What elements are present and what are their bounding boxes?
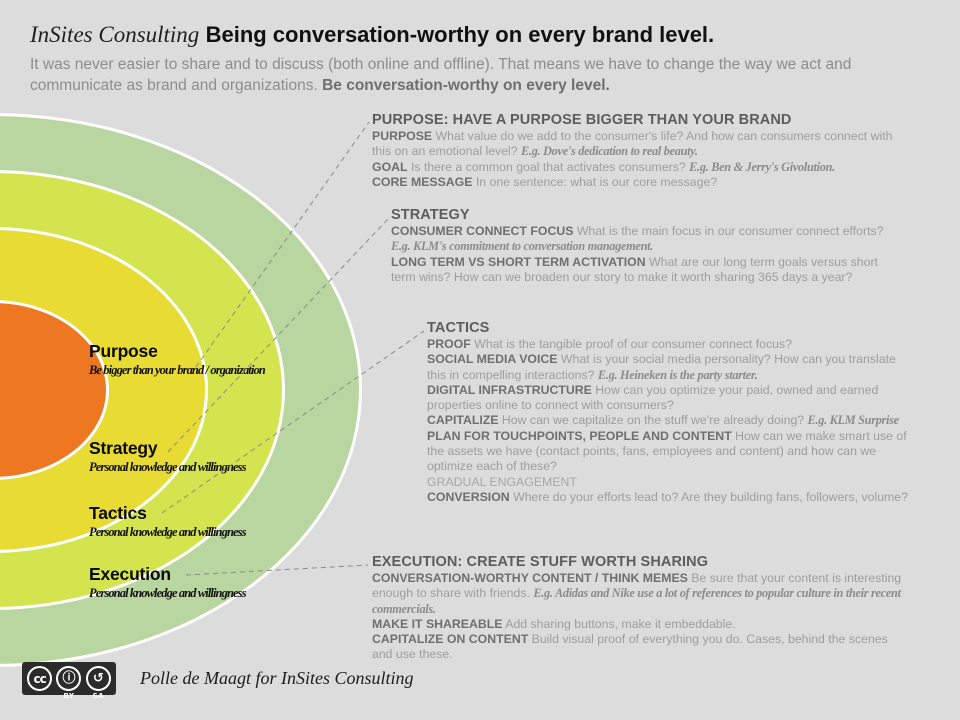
block-heading-strategy: STRATEGY: [391, 207, 896, 223]
list-item: CAPITALIZE How can we capitalize on the …: [427, 413, 912, 428]
ring-label-strategy: Strategy Personal knowledge and willingn…: [89, 440, 246, 473]
ring-label-purpose-title: Purpose: [89, 343, 265, 361]
list-item: LONG TERM VS SHORT TERM ACTIVATION What …: [391, 255, 896, 286]
ring-label-tactics-subtitle: Personal knowledge and willingness: [89, 526, 246, 539]
term: CORE MESSAGE: [372, 175, 472, 189]
infographic-canvas: InSites Consulting Being conversation-wo…: [0, 0, 960, 720]
term: CONVERSATION-WORTHY CONTENT / THINK MEME…: [372, 571, 688, 585]
term-example: E.g. Ben & Jerry's Givolution.: [689, 160, 835, 174]
term: DIGITAL INFRASTRUCTURE: [427, 383, 592, 397]
cc-by-symbol: ⓘ: [62, 672, 75, 685]
term-example: E.g. KLM Surprise: [808, 413, 899, 427]
list-item: GRADUAL ENGAGEMENT: [427, 475, 912, 490]
cc-logo-icon: cc: [27, 666, 52, 691]
term: PLAN FOR TOUCHPOINTS, PEOPLE AND CONTENT: [427, 429, 732, 443]
list-item: GOAL Is there a common goal that activat…: [372, 160, 897, 175]
list-item: SOCIAL MEDIA VOICE What is your social m…: [427, 352, 912, 383]
text-block-strategy: STRATEGY CONSUMER CONNECT FOCUS What is …: [391, 207, 896, 285]
term: CONSUMER CONNECT FOCUS: [391, 224, 573, 238]
term-text: How can we capitalize on the stuff we're…: [499, 413, 808, 427]
ring-label-execution: Execution Personal knowledge and willing…: [89, 566, 246, 599]
ring-label-strategy-title: Strategy: [89, 440, 246, 458]
text-block-execution: EXECUTION: CREATE STUFF WORTH SHARING CO…: [372, 554, 902, 663]
term-text: What is the main focus in our consumer c…: [573, 224, 883, 238]
block-heading-tactics: TACTICS: [427, 320, 912, 336]
list-item: CONSUMER CONNECT FOCUS What is the main …: [391, 224, 896, 255]
footer-credit: Polle de Maagt for InSites Consulting: [140, 668, 413, 689]
ring-label-strategy-subtitle: Personal knowledge and willingness: [89, 461, 246, 474]
list-item: MAKE IT SHAREABLE Add sharing buttons, m…: [372, 617, 902, 632]
ring-label-tactics: Tactics Personal knowledge and willingne…: [89, 505, 246, 538]
term: CONVERSION: [427, 490, 510, 504]
text-block-tactics: TACTICS PROOF What is the tangible proof…: [427, 320, 912, 505]
term-text: Add sharing buttons, make it embeddable.: [503, 617, 736, 631]
term: MAKE IT SHAREABLE: [372, 617, 503, 631]
cc-by-label: BY: [63, 693, 74, 700]
block-body-execution: CONVERSATION-WORTHY CONTENT / THINK MEME…: [372, 571, 902, 663]
term: GRADUAL ENGAGEMENT: [427, 475, 577, 489]
cc-sa-label: SA: [93, 693, 104, 700]
term-text: Where do your efforts lead to? Are they …: [510, 490, 908, 504]
term-text: Is there a common goal that activates co…: [408, 160, 690, 174]
term-text: In one sentence: what is our core messag…: [472, 175, 717, 189]
cc-sa-icon: ↺SA: [86, 666, 111, 691]
ring-label-execution-subtitle: Personal knowledge and willingness: [89, 587, 246, 600]
list-item: PURPOSE What value do we add to the cons…: [372, 129, 897, 160]
term: PROOF: [427, 337, 471, 351]
list-item: CONVERSATION-WORTHY CONTENT / THINK MEME…: [372, 571, 902, 617]
term: PURPOSE: [372, 129, 432, 143]
term: SOCIAL MEDIA VOICE: [427, 352, 558, 366]
list-item: DIGITAL INFRASTRUCTURE How can you optim…: [427, 383, 912, 414]
cc-by-icon: ⓘBY: [56, 666, 81, 691]
term: LONG TERM VS SHORT TERM ACTIVATION: [391, 255, 646, 269]
cc-sa-symbol: ↺: [93, 672, 104, 685]
creative-commons-badge[interactable]: cc ⓘBY ↺SA: [22, 662, 116, 695]
footer: cc ⓘBY ↺SA Polle de Maagt for InSites Co…: [22, 662, 413, 695]
term: CAPITALIZE: [427, 413, 499, 427]
cc-logo-text: cc: [34, 673, 46, 685]
list-item: CONVERSION Where do your efforts lead to…: [427, 490, 912, 505]
block-body-tactics: PROOF What is the tangible proof of our …: [427, 337, 912, 505]
list-item: CORE MESSAGE In one sentence: what is ou…: [372, 175, 897, 190]
term: CAPITALIZE ON CONTENT: [372, 632, 528, 646]
block-heading-execution: EXECUTION: CREATE STUFF WORTH SHARING: [372, 554, 902, 570]
block-body-purpose: PURPOSE What value do we add to the cons…: [372, 129, 897, 190]
term-example: E.g. Heineken is the party starter.: [598, 368, 758, 382]
block-body-strategy: CONSUMER CONNECT FOCUS What is the main …: [391, 224, 896, 285]
ring-label-execution-title: Execution: [89, 566, 246, 584]
list-item: PLAN FOR TOUCHPOINTS, PEOPLE AND CONTENT…: [427, 429, 912, 475]
block-heading-purpose: PURPOSE: HAVE A PURPOSE BIGGER THAN YOUR…: [372, 112, 897, 128]
list-item: PROOF What is the tangible proof of our …: [427, 337, 912, 352]
text-block-purpose: PURPOSE: HAVE A PURPOSE BIGGER THAN YOUR…: [372, 112, 897, 190]
list-item: CAPITALIZE ON CONTENT Build visual proof…: [372, 632, 902, 663]
term: GOAL: [372, 160, 408, 174]
ring-label-purpose-subtitle: Be bigger than your brand / organization: [89, 364, 265, 377]
term-example: E.g. KLM's commitment to conversation ma…: [391, 239, 653, 253]
term-text: What is the tangible proof of our consum…: [471, 337, 792, 351]
ring-label-purpose: Purpose Be bigger than your brand / orga…: [89, 343, 265, 376]
ring-label-tactics-title: Tactics: [89, 505, 246, 523]
term-example: E.g. Dove's dedication to real beauty.: [521, 144, 698, 158]
